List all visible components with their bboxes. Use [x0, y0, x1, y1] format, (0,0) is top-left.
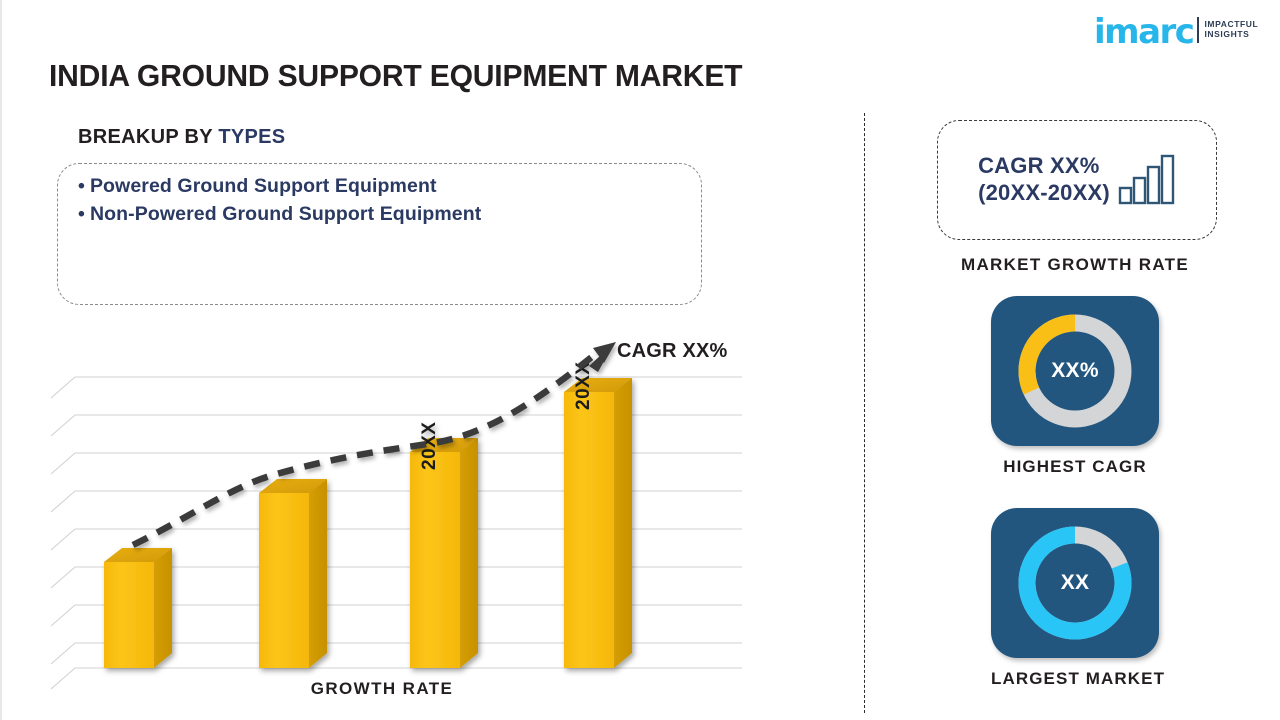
- breakup-list: •Powered Ground Support Equipment •Non-P…: [78, 172, 688, 229]
- bullet-icon: •: [78, 203, 85, 225]
- stat-card: XX: [991, 508, 1159, 658]
- logo-wordmark: imarc: [1094, 15, 1193, 49]
- imarc-logo: imarc IMPACTFUL INSIGHTS: [1094, 8, 1266, 52]
- page-title: INDIA GROUND SUPPORT EQUIPMENT MARKET: [49, 58, 742, 94]
- list-item-label: Non-Powered Ground Support Equipment: [90, 203, 481, 225]
- stat-largest-market: XX LARGEST MARKET: [991, 508, 1159, 689]
- list-item: •Powered Ground Support Equipment: [78, 172, 688, 200]
- logo-tagline: IMPACTFUL INSIGHTS: [1204, 20, 1258, 39]
- chart-trendline: [133, 342, 616, 545]
- breakup-heading-highlight: TYPES: [218, 126, 285, 148]
- cagr-line1: CAGR XX%: [978, 153, 1110, 180]
- chart-bar-label: 20XX: [573, 362, 594, 410]
- stat-card: XX%: [991, 296, 1159, 446]
- stat-caption: HIGHEST CAGR: [991, 457, 1159, 477]
- logo-tagline-line2: INSIGHTS: [1204, 30, 1258, 40]
- donut-chart-highest-cagr: XX%: [1010, 306, 1140, 436]
- chart-bar: [104, 548, 172, 668]
- infographic-page: imarc IMPACTFUL INSIGHTS INDIA GROUND SU…: [0, 0, 1280, 720]
- stat-highest-cagr: XX% HIGHEST CAGR: [991, 296, 1159, 477]
- chart-svg: 20XX 20XX: [48, 330, 758, 710]
- breakup-heading-plain: BREAKUP BY: [78, 126, 218, 148]
- market-growth-rate-caption: MARKET GROWTH RATE: [865, 255, 1280, 275]
- chart-x-axis-label: GROWTH RATE: [2, 679, 762, 699]
- chart-bar: 20XX: [410, 422, 478, 668]
- bar-chart-icon: [1118, 154, 1176, 206]
- list-item-label: Powered Ground Support Equipment: [90, 175, 437, 197]
- cagr-line2: (20XX-20XX): [978, 180, 1110, 207]
- market-growth-rate-card: CAGR XX% (20XX-20XX): [937, 120, 1217, 240]
- bullet-icon: •: [78, 175, 85, 197]
- chart-cagr-label: CAGR XX%: [617, 340, 728, 363]
- chart-bar: [259, 479, 327, 668]
- logo-divider: [1197, 17, 1199, 43]
- donut-chart-largest-market: XX: [1010, 518, 1140, 648]
- stat-caption: LARGEST MARKET: [991, 669, 1159, 689]
- cagr-text: CAGR XX% (20XX-20XX): [978, 153, 1110, 207]
- donut-value: XX: [1010, 518, 1140, 648]
- list-item: •Non-Powered Ground Support Equipment: [78, 200, 688, 228]
- growth-bar-chart: 20XX 20XX: [48, 330, 758, 710]
- chart-bar: 20XX: [564, 362, 632, 668]
- section-divider: [864, 113, 865, 713]
- breakup-heading: BREAKUP BY TYPES: [78, 126, 285, 149]
- donut-value: XX%: [1010, 306, 1140, 436]
